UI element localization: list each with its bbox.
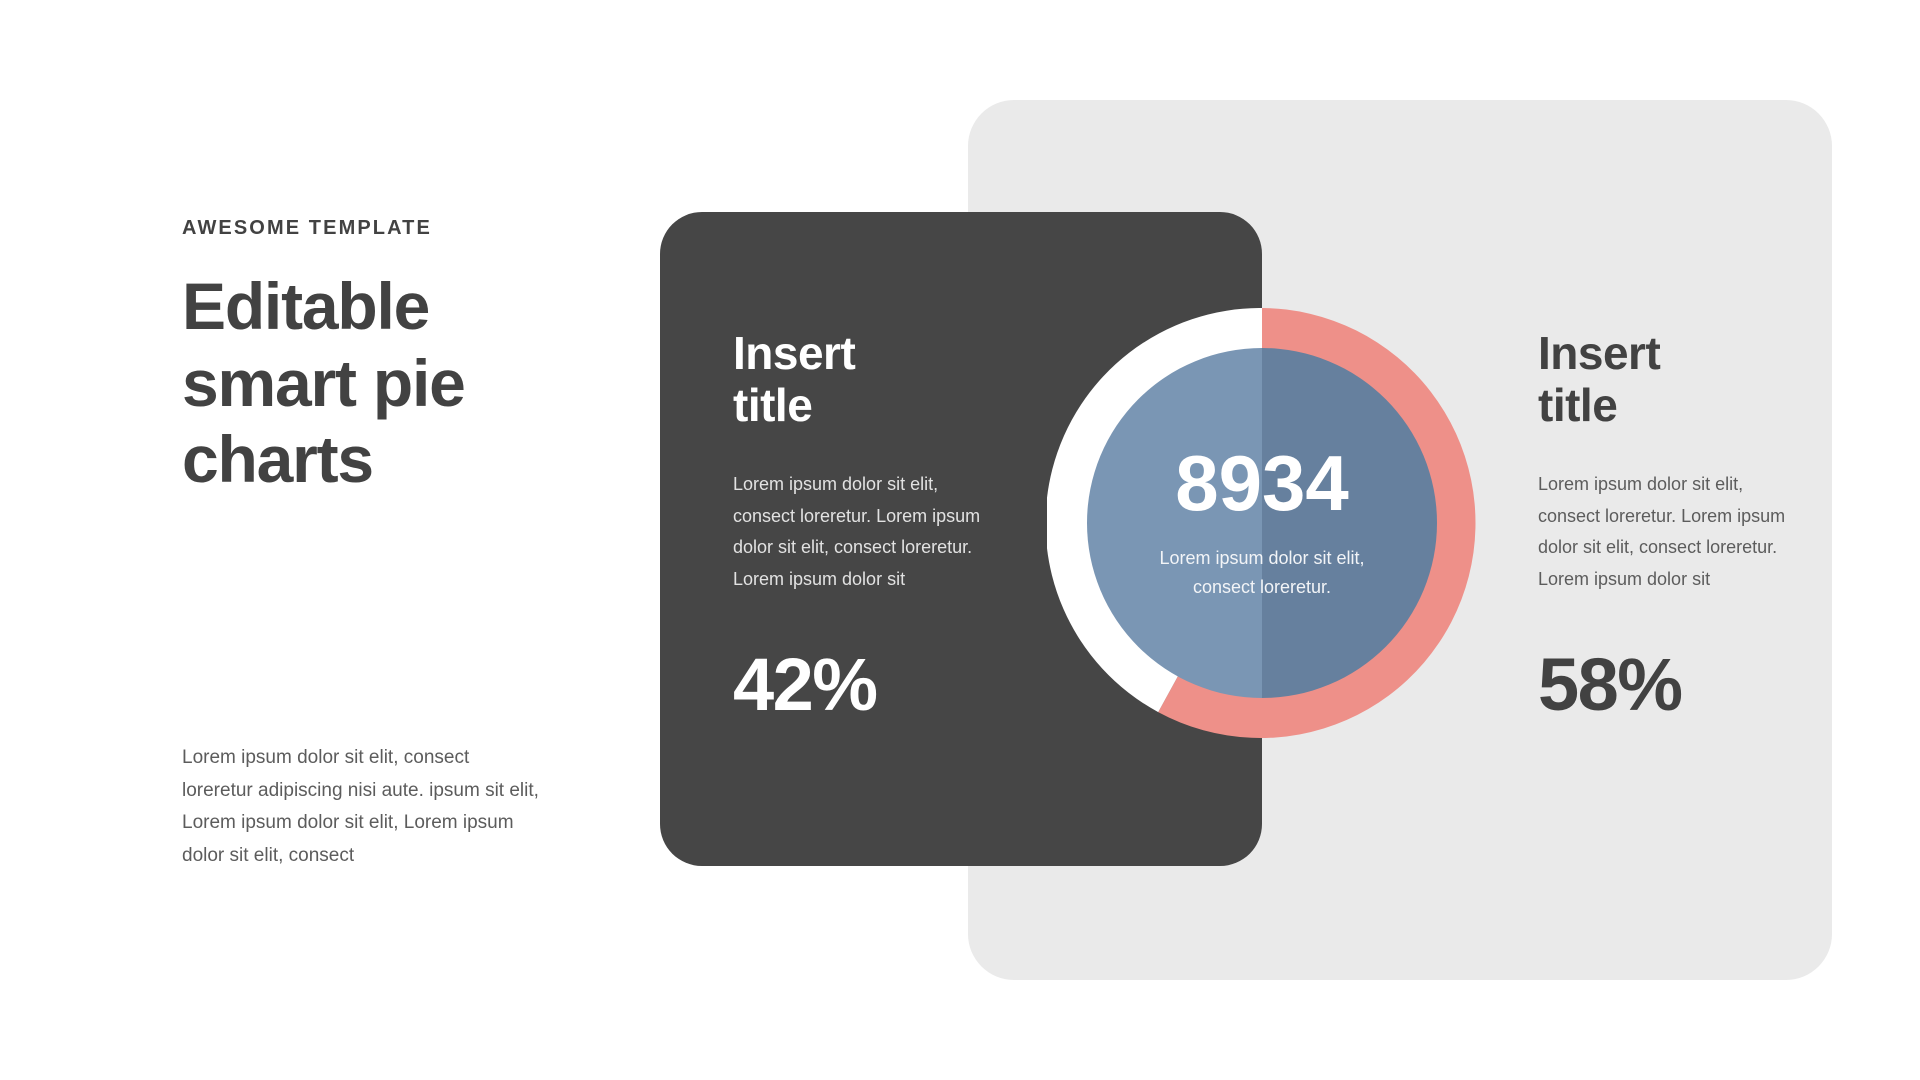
donut-chart-svg: [1047, 308, 1477, 738]
page-title: Editable smart pie charts: [182, 238, 542, 498]
left-card-percent: 42%: [733, 596, 1033, 722]
footer-paragraph: Lorem ipsum dolor sit elit, consect lore…: [182, 742, 542, 873]
donut-chart: 8934 Lorem ipsum dolor sit elit, consect…: [1047, 308, 1477, 738]
slide-canvas: AWESOME TEMPLATE Editable smart pie char…: [0, 0, 1920, 1080]
left-card-title: Insert title: [733, 328, 933, 431]
right-card-title: Insert title: [1538, 328, 1738, 431]
left-card-content: Insert title Lorem ipsum dolor sit elit,…: [733, 328, 1033, 722]
eyebrow-label: AWESOME TEMPLATE: [182, 218, 602, 238]
right-card-body: Lorem ipsum dolor sit elit, consect lore…: [1538, 431, 1796, 596]
right-card-content: Insert title Lorem ipsum dolor sit elit,…: [1538, 328, 1838, 722]
right-card-percent: 58%: [1538, 596, 1838, 722]
left-card-body: Lorem ipsum dolor sit elit, consect lore…: [733, 431, 991, 596]
intro-text-block: AWESOME TEMPLATE Editable smart pie char…: [182, 218, 602, 498]
